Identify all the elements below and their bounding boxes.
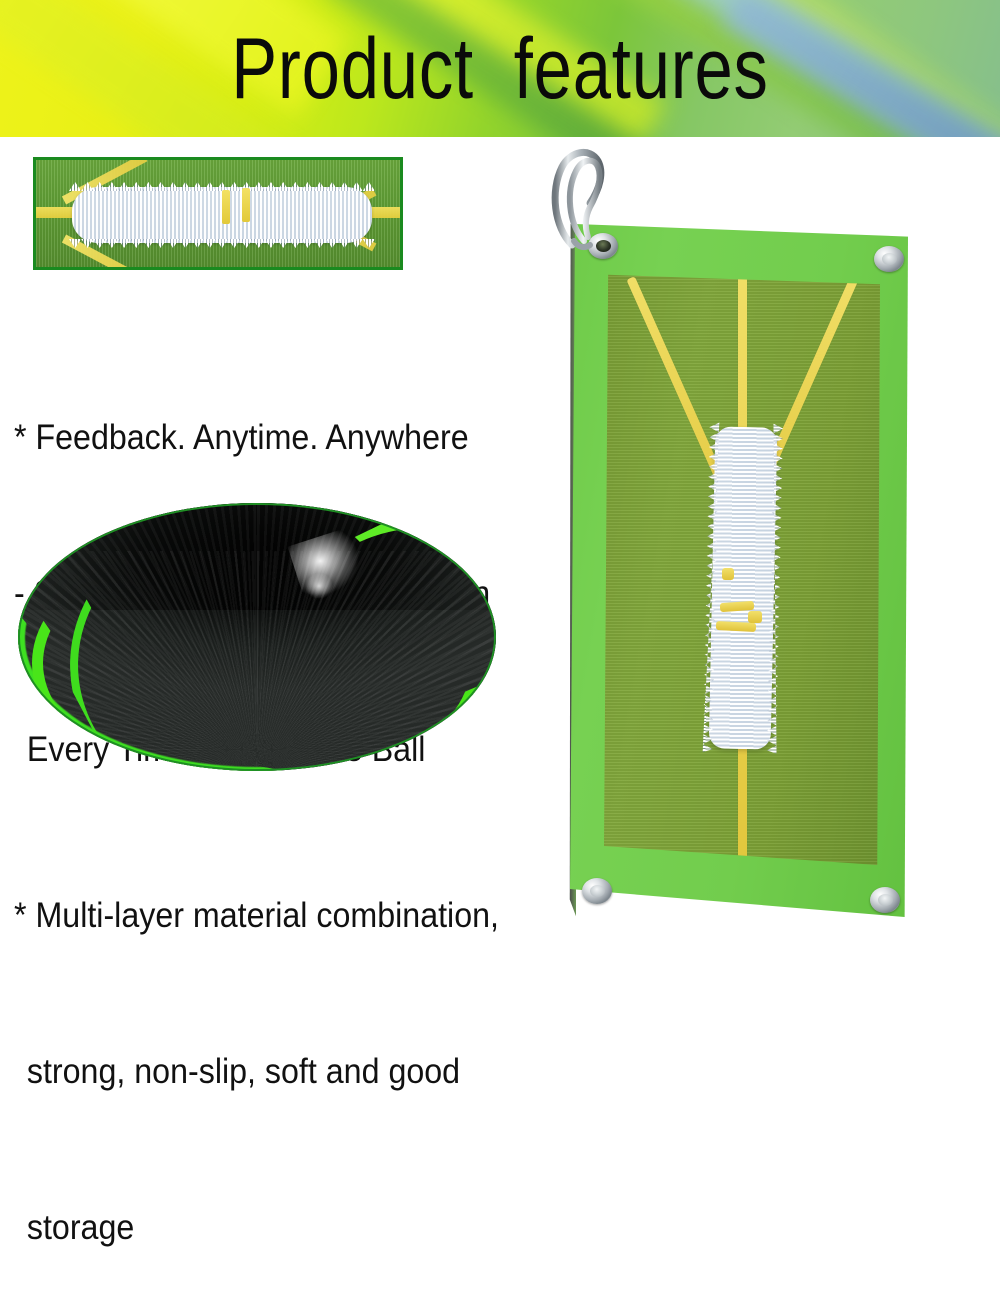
feature-line: * Multi-layer material combination,: [14, 890, 499, 942]
strike-mark-band: [709, 426, 778, 749]
feature-line: * Feedback. Anytime. Anywhere: [14, 412, 490, 464]
page-title: Product features: [100, 17, 900, 121]
photo-rim: [18, 503, 496, 771]
feature-line: storage: [14, 1202, 499, 1254]
grommet-hole: [878, 894, 893, 906]
grommet-icon: [874, 246, 904, 272]
mat-turf-surface: [604, 270, 880, 865]
feature-text-block-2: * Multi-layer material combination, stro…: [14, 786, 499, 1306]
grommet-icon: [870, 887, 900, 913]
header-banner: Product features: [0, 0, 1000, 137]
alignment-tick: [222, 190, 230, 224]
grommet-hole: [590, 885, 605, 897]
carabiner-icon: [544, 141, 620, 256]
alignment-tick: [748, 611, 762, 623]
feature-line: strong, non-slip, soft and good: [14, 1046, 499, 1098]
alignment-tick: [242, 188, 250, 222]
swing-path-strike-closeup-image: [33, 157, 403, 270]
golf-swing-training-mat-image: [520, 145, 950, 945]
page-bottom-margin: [0, 960, 1000, 1000]
multi-layer-underside-image: [18, 503, 496, 771]
grommet-icon: [582, 878, 612, 904]
alignment-tick: [722, 568, 734, 580]
grommet-hole: [882, 253, 897, 265]
